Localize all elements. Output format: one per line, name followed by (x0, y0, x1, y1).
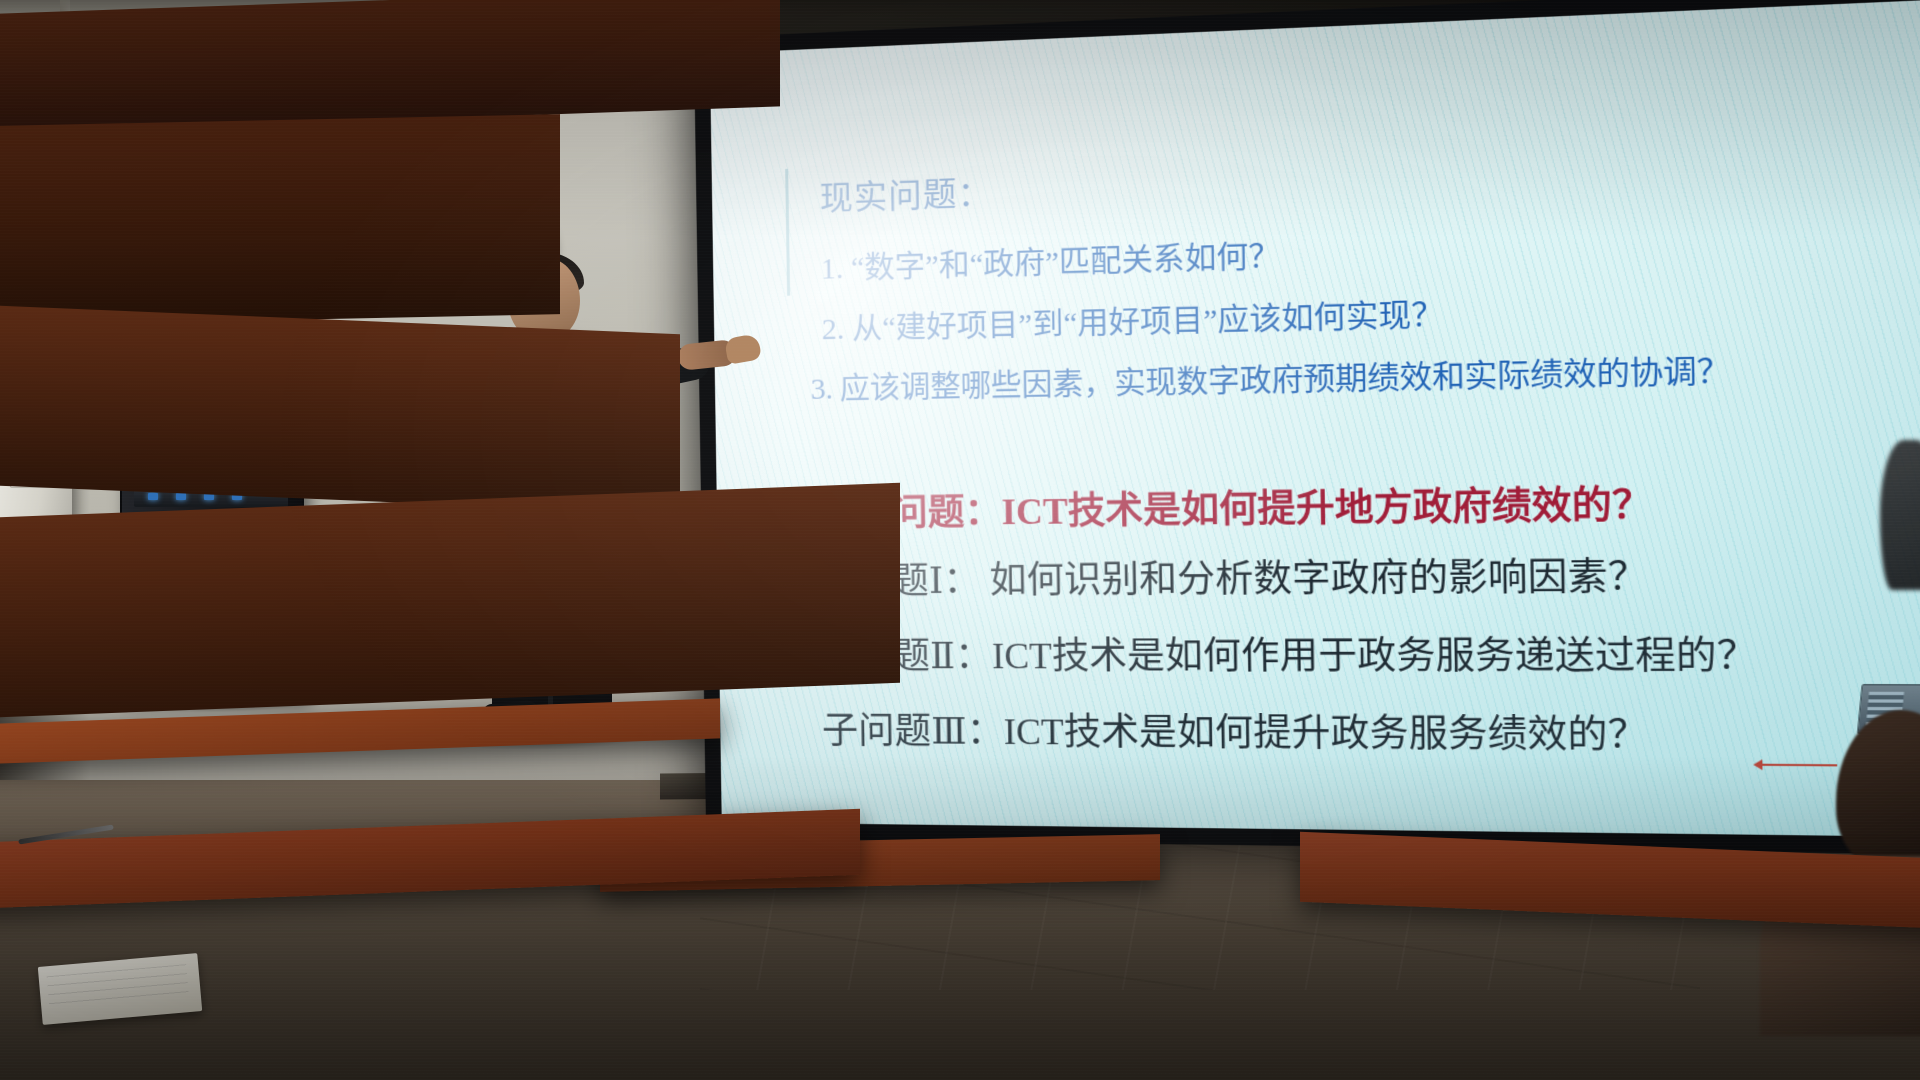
reality-question-3: 3. 应该调整哪些因素，实现数字政府预期绩效和实际绩效的协调？ (810, 343, 1920, 413)
reality-question-1: 1. “数字”和“政府”匹配关系如何？ (820, 213, 1920, 292)
scientific-question: 科学问题：ICT技术是如何提升地方政府绩效的？ (818, 474, 1653, 537)
desk-foreground-front (0, 483, 900, 718)
sub-question-2: 子问题Ⅱ：ICT技术是如何作用于政务服务递送过程的？ (821, 636, 1920, 675)
desk-center-front (0, 114, 560, 326)
sub-question-3: 子问题Ⅲ：ICT技术是如何提升政务服务绩效的？ (822, 713, 1920, 757)
desk-right-front (0, 306, 680, 515)
photograph-stage: 现实问题： 1. “数字”和“政府”匹配关系如何？ 2. 从“建好项目”到“用好… (0, 0, 1920, 1080)
sub-question-1: 子问题Ⅰ： 如何识别和分析数字政府的影响因素？ (819, 555, 1920, 599)
audience-head-far (1880, 440, 1920, 590)
reality-question-list: 1. “数字”和“政府”匹配关系如何？ 2. 从“建好项目”到“用好项目”应该如… (820, 213, 1920, 427)
reality-question-2: 2. 从“建好项目”到“用好项目”应该如何实现？ (821, 278, 1920, 353)
slide-accent-bar (785, 169, 790, 296)
screen-surface: 现实问题： 1. “数字”和“政府”匹配关系如何？ 2. 从“建好项目”到“用好… (710, 0, 1920, 838)
arrow-icon (1761, 764, 1837, 767)
projection-screen: 现实问题： 1. “数字”和“政府”匹配关系如何？ 2. 从“建好项目”到“用好… (694, 0, 1920, 856)
slide-heading: 现实问题： (819, 166, 992, 220)
presentation-slide: 现实问题： 1. “数字”和“政府”匹配关系如何？ 2. 从“建好项目”到“用好… (710, 0, 1920, 838)
